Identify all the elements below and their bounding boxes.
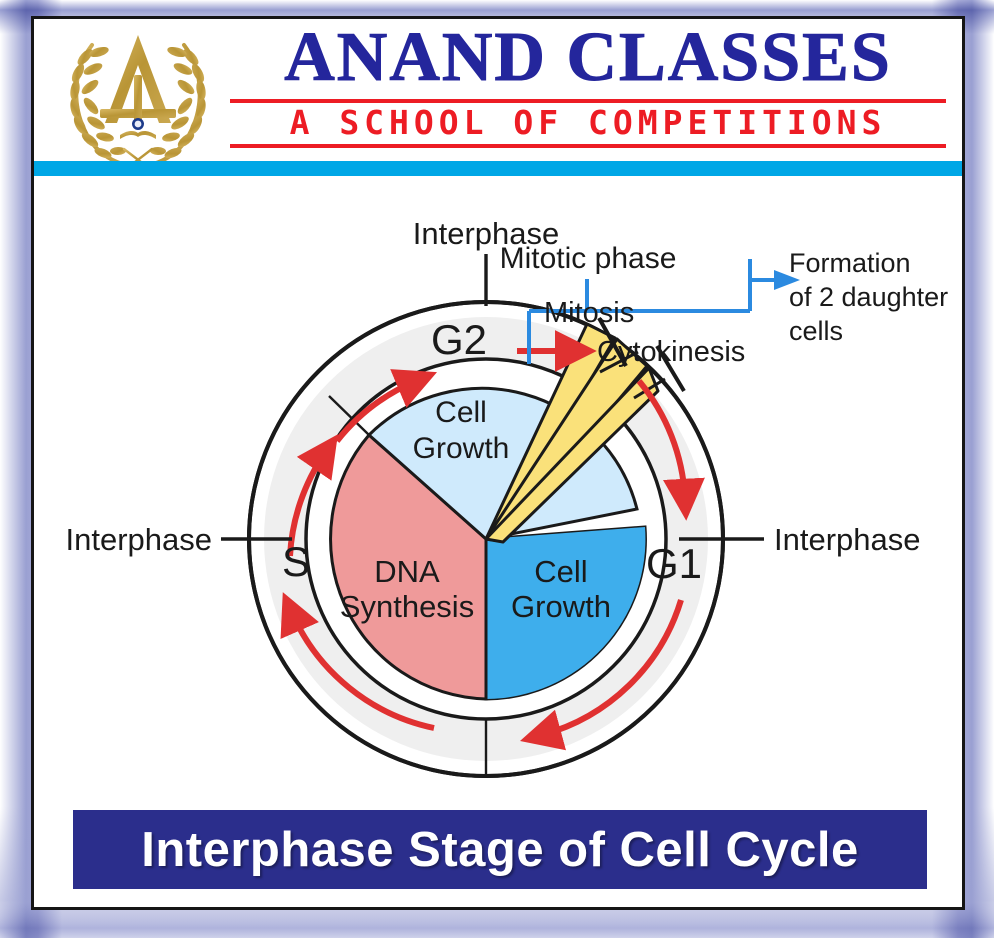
mitotic-bracket-arrow-line	[750, 280, 776, 311]
poster-root: ANAND CLASSES A SCHOOL OF COMPETITIONS	[0, 0, 994, 938]
ring-label-g2: G2	[431, 316, 487, 363]
formation-line-3: cells	[789, 316, 843, 346]
cytokinesis-label: Cytokinesis	[597, 336, 745, 368]
ring-label-s: S	[282, 538, 310, 585]
label-g1-cell-growth-line1: Cell	[534, 554, 587, 589]
mitotic-phase-label: Mitotic phase	[500, 242, 677, 275]
label-g1-cell-growth-line2: Growth	[511, 589, 611, 624]
brand-rule-bottom	[230, 144, 946, 148]
label-s-synthesis: Synthesis	[340, 589, 474, 624]
formation-line-2: of 2 daughter	[789, 282, 948, 312]
ring-label-g1: G1	[646, 540, 702, 587]
brand-header: ANAND CLASSES A SCHOOL OF COMPETITIONS	[34, 19, 962, 159]
title-banner: Interphase Stage of Cell Cycle	[73, 810, 927, 889]
brand-text-block: ANAND CLASSES A SCHOOL OF COMPETITIONS	[224, 19, 952, 148]
formation-line-1: Formation	[789, 248, 911, 278]
interphase-label-right: Interphase	[774, 522, 921, 557]
banner-title: Interphase Stage of Cell Cycle	[141, 822, 859, 878]
cell-cycle-diagram: Cell Growth DNA Synthesis Cell Growth G1…	[34, 176, 962, 796]
interphase-label-left: Interphase	[66, 522, 213, 557]
laurel-wreath-a-emblem-icon	[58, 23, 218, 169]
cell-cycle-svg: Cell Growth DNA Synthesis Cell Growth G1…	[34, 176, 962, 796]
label-g2-cell-growth-line2: Growth	[413, 432, 510, 465]
brand-subtitle: A SCHOOL OF COMPETITIONS	[224, 103, 952, 143]
poster-card: ANAND CLASSES A SCHOOL OF COMPETITIONS	[31, 16, 965, 910]
cyan-accent-bar	[34, 161, 962, 176]
mitosis-label: Mitosis	[544, 297, 634, 329]
brand-title: ANAND CLASSES	[224, 19, 952, 97]
label-s-dna: DNA	[374, 554, 440, 589]
label-g2-cell-growth-line1: Cell	[435, 396, 487, 429]
